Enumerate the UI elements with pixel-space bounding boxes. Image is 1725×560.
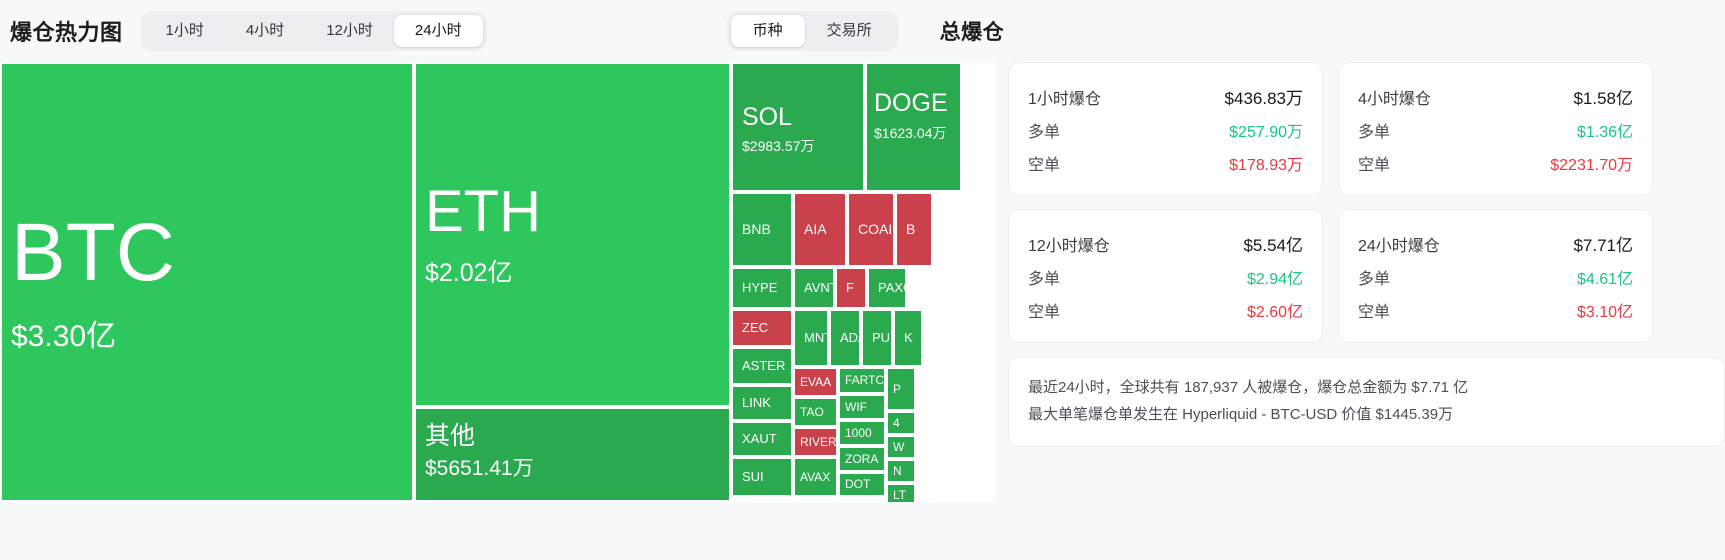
treemap-tile-symbol: EVAA <box>800 376 831 389</box>
mode-segmented-control: 币种 交易所 <box>727 11 898 51</box>
card-header-row: 4小时爆仓 $1.58亿 <box>1358 80 1633 113</box>
treemap-tile-symbol: AVNT <box>804 281 824 295</box>
treemap-tile-k[interactable]: K <box>893 309 923 367</box>
treemap-tile-paxg[interactable]: PAXG <box>867 267 907 309</box>
treemap-tile-symbol: ASTER <box>742 359 782 373</box>
short-label: 空单 <box>1028 298 1060 322</box>
treemap-tile-link[interactable]: LINK <box>731 385 793 421</box>
treemap-tile-symbol: SOL <box>742 104 854 131</box>
treemap-tile-symbol: WIF <box>845 401 879 414</box>
treemap-tile-avnt[interactable]: AVNT <box>793 267 835 309</box>
summary-line-1: 最近24小时，全球共有 187,937 人被爆仓，爆仓总金额为 $7.71 亿 <box>1028 374 1705 401</box>
treemap-tile-symbol: LT <box>893 489 909 502</box>
card-title: 1小时爆仓 <box>1028 85 1101 109</box>
treemap-tile-symbol: ZORA <box>845 453 879 466</box>
card-12h[interactable]: 12小时爆仓 $5.54亿 多单 $2.94亿 空单 $2.60亿 <box>1008 209 1323 343</box>
treemap-tile-b[interactable]: B <box>895 192 933 267</box>
treemap-tile-evaa[interactable]: EVAA <box>793 367 838 397</box>
card-title: 24小时爆仓 <box>1358 232 1440 256</box>
long-label: 多单 <box>1358 265 1390 289</box>
treemap-tile-value: $2.02亿 <box>425 258 720 288</box>
treemap-tile-btc[interactable]: BTC $3.30亿 <box>0 62 414 502</box>
treemap-tile-sui[interactable]: SUI <box>731 457 793 497</box>
mode-tab-exchange[interactable]: 交易所 <box>805 15 894 47</box>
treemap-tile-aia[interactable]: AIA <box>793 192 847 267</box>
short-value: $2231.70万 <box>1550 151 1633 175</box>
page-header: 爆仓热力图 1小时 4小时 12小时 24小时 币种 交易所 总爆仓 <box>0 0 1725 62</box>
card-long-row: 多单 $4.61亿 <box>1358 260 1633 293</box>
treemap-tile-p[interactable]: P <box>886 367 916 411</box>
card-header-row: 24小时爆仓 $7.71亿 <box>1358 227 1633 260</box>
short-value: $2.60亿 <box>1247 298 1303 322</box>
treemap-tile-value: $3.30亿 <box>11 319 403 355</box>
treemap-tile-symbol: AIA <box>804 222 836 237</box>
treemap-tile-symbol: DOGE <box>874 90 953 117</box>
treemap-tile-symbol: BTC <box>11 209 403 298</box>
treemap-tile-w[interactable]: W <box>886 435 916 459</box>
treemap-tile-symbol: RIVER <box>800 436 831 449</box>
card-short-row: 空单 $2231.70万 <box>1358 146 1633 179</box>
treemap-tile-symbol: ADA <box>840 331 850 345</box>
timeframe-tab-24h[interactable]: 24小时 <box>394 15 483 47</box>
treemap-tile-other[interactable]: 其他 $5651.41万 <box>414 407 731 502</box>
treemap-tile-river[interactable]: RIVER <box>793 427 838 457</box>
treemap-tile-coai[interactable]: COAI <box>847 192 895 267</box>
treemap-tile-eth[interactable]: ETH $2.02亿 <box>414 62 731 407</box>
treemap-tile-symbol: DOT <box>845 478 879 491</box>
card-title: 12小时爆仓 <box>1028 232 1110 256</box>
treemap-tile-symbol: 其他 <box>425 423 720 450</box>
long-label: 多单 <box>1358 118 1390 142</box>
treemap-tile-wif[interactable]: WIF <box>838 394 886 420</box>
card-24h[interactable]: 24小时爆仓 $7.71亿 多单 $4.61亿 空单 $3.10亿 <box>1338 209 1653 343</box>
short-value: $3.10亿 <box>1577 298 1633 322</box>
card-short-row: 空单 $2.60亿 <box>1028 293 1303 326</box>
treemap-tile-symbol: K <box>904 331 912 345</box>
treemap-tile-fartcoin[interactable]: FARTCOIN <box>838 367 886 394</box>
long-label: 多单 <box>1028 118 1060 142</box>
treemap-tile-symbol: BNB <box>742 222 782 237</box>
card-total: $436.83万 <box>1225 84 1303 109</box>
treemap-tile-symbol: N <box>893 465 909 478</box>
liquidation-heatmap-page: 爆仓热力图 1小时 4小时 12小时 24小时 币种 交易所 总爆仓 BTC $… <box>0 0 1725 560</box>
total-liquidation-panel: 1小时爆仓 $436.83万 多单 $257.90万 空单 $178.93万 4… <box>1008 62 1725 522</box>
treemap-tile-tao[interactable]: TAO <box>793 397 838 427</box>
long-value: $4.61亿 <box>1577 265 1633 289</box>
treemap-tile-symbol: F <box>846 281 856 295</box>
treemap-tile-zora[interactable]: ZORA <box>838 446 886 472</box>
treemap-tile-symbol: W <box>893 441 909 454</box>
card-1h[interactable]: 1小时爆仓 $436.83万 多单 $257.90万 空单 $178.93万 <box>1008 62 1323 196</box>
treemap-tile-value: $1623.04万 <box>874 124 953 143</box>
treemap-tile-symbol: FARTCOIN <box>845 374 879 387</box>
treemap-tile-n[interactable]: N <box>886 459 916 483</box>
treemap-tile-lt[interactable]: LT <box>886 483 916 502</box>
card-title: 4小时爆仓 <box>1358 85 1431 109</box>
mode-tab-coin[interactable]: 币种 <box>731 15 805 47</box>
card-long-row: 多单 $257.90万 <box>1028 113 1303 146</box>
treemap-tile-f[interactable]: F <box>835 267 867 309</box>
long-value: $1.36亿 <box>1577 118 1633 142</box>
summary-note: 最近24小时，全球共有 187,937 人被爆仓，爆仓总金额为 $7.71 亿 … <box>1008 357 1725 447</box>
card-total: $1.58亿 <box>1573 84 1633 109</box>
treemap-tile-symbol: AVAX <box>800 471 831 484</box>
treemap-tile-dot[interactable]: DOT <box>838 472 886 497</box>
treemap-tile-symbol: PUMP <box>872 331 882 345</box>
treemap-tile-4[interactable]: 4 <box>886 411 916 435</box>
treemap-tile-mnt[interactable]: MNT <box>793 309 829 367</box>
long-value: $2.94亿 <box>1247 265 1303 289</box>
card-long-row: 多单 $1.36亿 <box>1358 113 1633 146</box>
treemap-tile-symbol: SUI <box>742 470 782 484</box>
treemap-tile-hype[interactable]: HYPE <box>731 267 793 309</box>
treemap-tile-value: $5651.41万 <box>425 456 720 481</box>
page-title: 爆仓热力图 <box>10 15 123 47</box>
treemap-tile-zec[interactable]: ZEC <box>731 309 793 347</box>
card-total: $7.71亿 <box>1573 231 1633 256</box>
timeframe-tab-1h[interactable]: 1小时 <box>145 15 225 47</box>
treemap-tile-value: $2983.57万 <box>742 138 854 155</box>
short-label: 空单 <box>1358 151 1390 175</box>
short-label: 空单 <box>1028 151 1060 175</box>
card-total: $5.54亿 <box>1243 231 1303 256</box>
treemap-tile-pump[interactable]: PUMP <box>861 309 893 367</box>
treemap-tile-symbol: P <box>893 383 909 396</box>
treemap-tile-bnb[interactable]: BNB <box>731 192 793 267</box>
long-value: $257.90万 <box>1229 118 1303 142</box>
card-header-row: 12小时爆仓 $5.54亿 <box>1028 227 1303 260</box>
treemap-tile-aster[interactable]: ASTER <box>731 347 793 385</box>
treemap-tile-symbol: LINK <box>742 396 782 410</box>
liquidation-treemap: BTC $3.30亿 ETH $2.02亿 其他 $5651.41万 SOL $… <box>0 62 996 502</box>
short-label: 空单 <box>1358 298 1390 322</box>
timeframe-segmented-control: 1小时 4小时 12小时 24小时 <box>141 11 487 51</box>
card-short-row: 空单 $178.93万 <box>1028 146 1303 179</box>
card-header-row: 1小时爆仓 $436.83万 <box>1028 80 1303 113</box>
timeframe-tab-12h[interactable]: 12小时 <box>305 15 394 47</box>
treemap-tile-xaut[interactable]: XAUT <box>731 421 793 457</box>
total-liquidation-title: 总爆仓 <box>940 16 1005 46</box>
treemap-tile-symbol: HYPE <box>742 281 782 295</box>
treemap-tile-symbol: B <box>906 222 922 237</box>
treemap-tile-symbol: TAO <box>800 406 831 419</box>
short-value: $178.93万 <box>1229 151 1303 175</box>
liquidation-cards: 1小时爆仓 $436.83万 多单 $257.90万 空单 $178.93万 4… <box>1008 62 1725 343</box>
treemap-tile-1000[interactable]: 1000 <box>838 420 886 446</box>
treemap-tile-doge[interactable]: DOGE $1623.04万 <box>865 62 962 192</box>
treemap-tile-ada[interactable]: ADA <box>829 309 861 367</box>
treemap-tile-symbol: MNT <box>804 331 818 345</box>
treemap-tile-symbol: 1000 <box>845 427 879 440</box>
summary-line-2: 最大单笔爆仓单发生在 Hyperliquid - BTC-USD 价值 $144… <box>1028 401 1705 428</box>
treemap-tile-symbol: 4 <box>893 417 909 430</box>
treemap-tile-symbol: PAXG <box>878 281 896 295</box>
timeframe-tab-4h[interactable]: 4小时 <box>225 15 305 47</box>
treemap-tile-symbol: ETH <box>425 181 720 244</box>
treemap-tile-symbol: XAUT <box>742 432 782 446</box>
treemap-tile-sol[interactable]: SOL $2983.57万 <box>731 62 865 192</box>
long-label: 多单 <box>1028 265 1060 289</box>
card-short-row: 空单 $3.10亿 <box>1358 293 1633 326</box>
treemap-tile-symbol: COAI <box>858 222 884 237</box>
treemap-tile-symbol: ZEC <box>742 321 782 335</box>
treemap-tile-avax[interactable]: AVAX <box>793 457 838 497</box>
card-long-row: 多单 $2.94亿 <box>1028 260 1303 293</box>
card-4h[interactable]: 4小时爆仓 $1.58亿 多单 $1.36亿 空单 $2231.70万 <box>1338 62 1653 196</box>
